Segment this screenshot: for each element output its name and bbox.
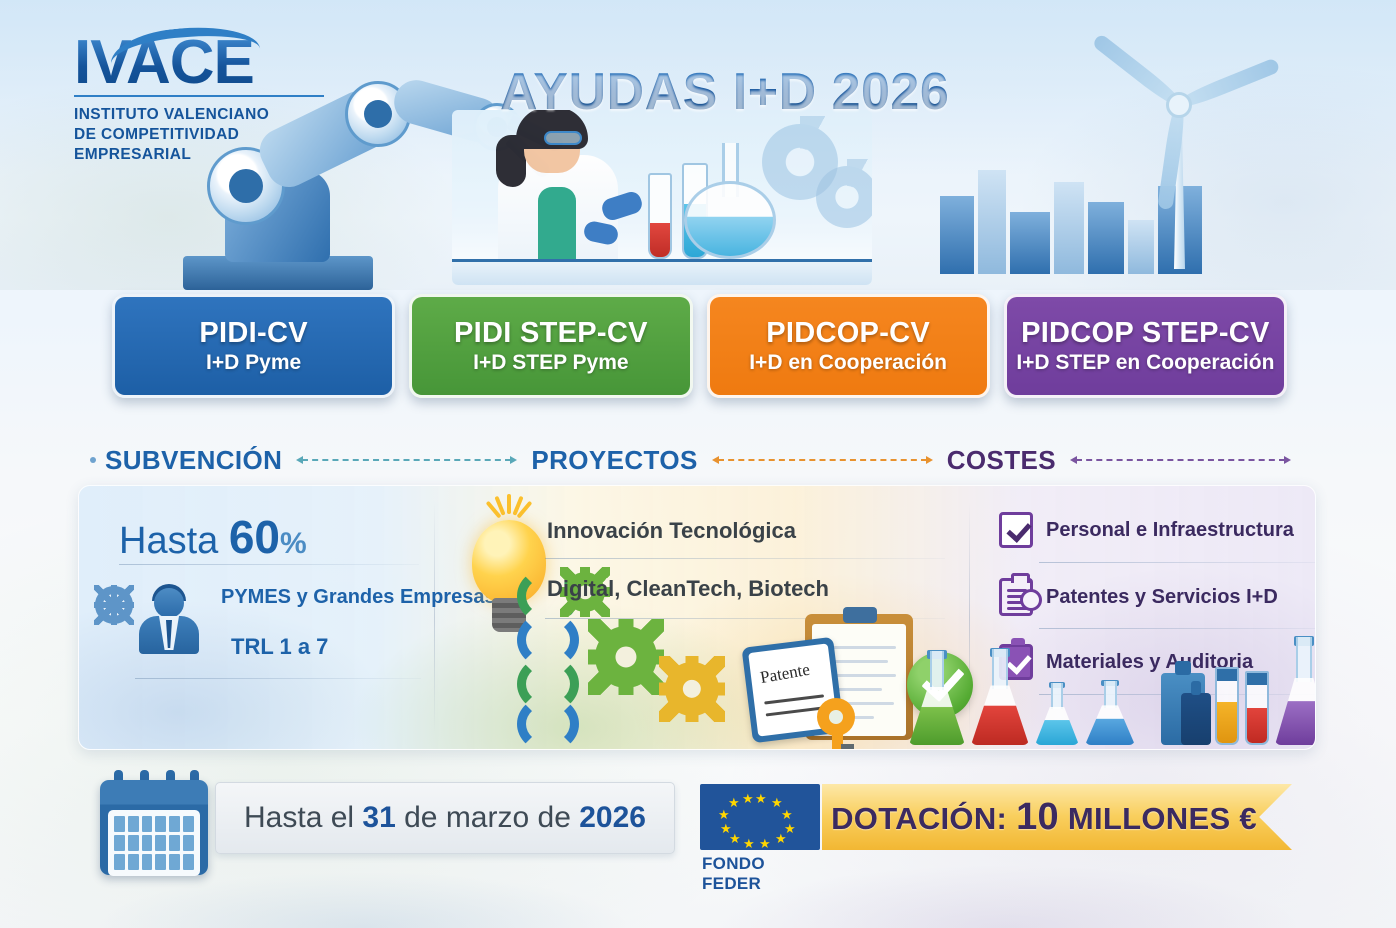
logo-subtitle: INSTITUTO VALENCIANO DE COMPETITIVIDAD E… <box>74 105 349 164</box>
section-header-row: SUBVENCIÓN PROYECTOS COSTES <box>90 440 1305 480</box>
grant-percentage-value: 60 <box>229 511 280 563</box>
divider-cost-2 <box>1039 628 1316 629</box>
laboratory-glassware-illustration <box>909 637 1309 749</box>
wind-turbine-illustration <box>1086 18 1276 268</box>
eu-fund-label: FONDO FEDER <box>702 854 820 894</box>
program-subtitle: I+D STEP Pyme <box>473 352 628 374</box>
clipboard-icon <box>999 578 1033 616</box>
key-icon <box>817 698 861 750</box>
project-type-line1: Innovación Tecnológica <box>547 518 796 544</box>
program-subtitle: I+D en Cooperación <box>749 352 947 374</box>
gear-yellow-icon <box>665 662 719 716</box>
project-type-line2: Digital, CleanTech, Biotech <box>547 576 829 602</box>
cost-item-personal: Personal e Infraestructura <box>999 512 1294 548</box>
cost-item-patents: Patentes y Servicios I+D <box>999 578 1278 616</box>
program-subtitle: I+D Pyme <box>206 352 301 374</box>
bullet-dot-icon <box>90 457 96 463</box>
eu-flag-icon: ★ ★ ★ ★ ★ ★ ★ ★ ★ ★ ★ ★ <box>700 784 820 850</box>
program-title: PIDI-CV <box>199 318 307 348</box>
connector-arrow-2 <box>712 459 933 461</box>
deadline-text: Hasta el 31 de marzo de 2026 <box>244 801 646 835</box>
cost-label: Personal e Infraestructura <box>1046 519 1294 542</box>
grant-percentage-symbol: % <box>280 527 307 560</box>
section-label-proyectos: PROYECTOS <box>531 445 697 476</box>
checkbox-icon <box>999 512 1033 548</box>
grant-amount-text: DOTACIÓN: 10 MILLONES € <box>831 796 1283 839</box>
divider-projects <box>545 558 945 559</box>
cost-label: Patentes y Servicios I+D <box>1046 586 1278 609</box>
page-title: AYUDAS I+D 2026 <box>500 62 949 122</box>
divider-under-percentage <box>119 564 419 565</box>
grant-prefix: DOTACIÓN: <box>831 801 1016 836</box>
content-panel: Hasta 60% PYMES y Grandes Empresas TRL 1… <box>78 485 1316 750</box>
calendar-icon <box>100 770 208 875</box>
logo-subtitle-line3: EMPRESARIAL <box>74 145 349 165</box>
program-card-pidi-cv[interactable]: PIDI-CV I+D Pyme <box>112 294 395 398</box>
divider-cost-1 <box>1039 562 1316 563</box>
grant-suffix: MILLONES € <box>1059 801 1257 836</box>
program-title: PIDCOP-CV <box>766 318 930 348</box>
program-title: PIDI STEP-CV <box>454 318 648 348</box>
program-card-pidi-step-cv[interactable]: PIDI STEP-CV I+D STEP Pyme <box>409 294 692 398</box>
grant-percentage: Hasta 60% <box>119 510 307 564</box>
grant-amount: 10 <box>1016 796 1059 838</box>
logo-subtitle-line1: INSTITUTO VALENCIANO <box>74 105 349 125</box>
ivace-logo[interactable]: IVACE INSTITUTO VALENCIANO DE COMPETITIV… <box>74 34 349 164</box>
program-cards: PIDI-CV I+D Pyme PIDI STEP-CV I+D STEP P… <box>112 294 1287 398</box>
deadline-day: 31 <box>362 801 395 834</box>
section-label-costes: COSTES <box>947 445 1056 476</box>
program-title: PIDCOP STEP-CV <box>1021 318 1270 348</box>
logo-subtitle-line2: DE COMPETITIVIDAD <box>74 125 349 145</box>
infographic-poster: IVACE INSTITUTO VALENCIANO DE COMPETITIV… <box>0 0 1396 928</box>
divider-under-trl <box>135 678 421 679</box>
eu-fund-block: ★ ★ ★ ★ ★ ★ ★ ★ ★ ★ ★ ★ FONDO FEDER <box>700 784 820 866</box>
column-divider-left <box>434 502 435 734</box>
gear-icon <box>95 586 133 624</box>
deadline-banner: Hasta el 31 de marzo de 2026 <box>215 782 675 854</box>
section-label-subvencion: SUBVENCIÓN <box>105 445 282 476</box>
connector-arrow-1 <box>296 459 517 461</box>
businessman-icon <box>137 578 201 654</box>
connector-arrow-3 <box>1070 459 1291 461</box>
program-card-pidcop-step-cv[interactable]: PIDCOP STEP-CV I+D STEP en Cooperación <box>1004 294 1287 398</box>
program-subtitle: I+D STEP en Cooperación <box>1016 352 1274 374</box>
header-banner: IVACE INSTITUTO VALENCIANO DE COMPETITIV… <box>0 0 1396 290</box>
program-card-pidcop-cv[interactable]: PIDCOP-CV I+D en Cooperación <box>707 294 990 398</box>
deadline-prefix: Hasta el <box>244 801 362 834</box>
grant-percentage-prefix: Hasta <box>119 520 229 562</box>
patent-label: Patente <box>759 660 812 688</box>
deadline-year: 2026 <box>579 801 646 834</box>
deadline-middle: de marzo de <box>396 801 579 834</box>
trl-label: TRL 1 a 7 <box>231 634 328 660</box>
gear-green-icon <box>595 626 657 688</box>
scientist-lab-illustration <box>452 110 872 285</box>
grant-amount-ribbon: DOTACIÓN: 10 MILLONES € <box>822 784 1292 850</box>
